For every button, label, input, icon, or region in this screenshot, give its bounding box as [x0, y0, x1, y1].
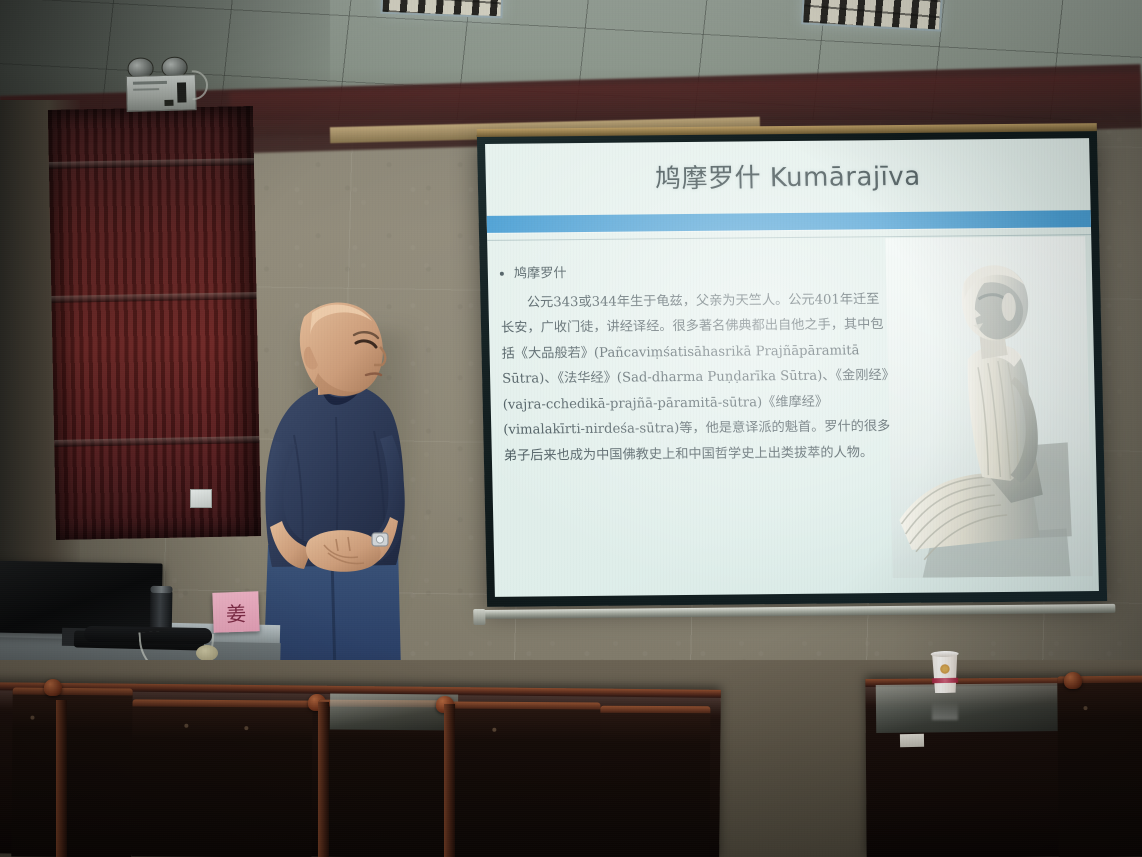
- chair-knob: [44, 679, 62, 696]
- chair-back[interactable]: [1057, 676, 1142, 857]
- slide-body: 鸠摩罗什 公元343或344年生于龟兹，父亲为天竺人。公元401年迁至长安，广收…: [500, 258, 897, 469]
- light-louver-cross: [383, 0, 502, 16]
- slide-bullet-item: 鸠摩罗什: [500, 258, 893, 287]
- bullet-dot-icon: [500, 272, 504, 276]
- paper-cup[interactable]: [930, 653, 961, 694]
- chair-rivet: [30, 716, 34, 720]
- light-louver-cross: [803, 0, 941, 30]
- curtain-seam: [49, 158, 254, 169]
- desk-glass-top: [876, 683, 1066, 733]
- screen-frame: 鸠摩罗什 Kumārajīva 鸠摩罗什 公元343或344年生于龟兹，父亲为天…: [477, 129, 1107, 607]
- screen-pull-knob[interactable]: [473, 609, 485, 625]
- computer-monitor[interactable]: [0, 560, 163, 635]
- cup-reflection: [932, 694, 958, 720]
- slide-paragraph: 公元343或344年生于龟兹，父亲为天竺人。公元401年迁至长安，广收门徒，讲经…: [500, 287, 896, 469]
- chair-rivet: [492, 728, 496, 732]
- wall-power-outlet[interactable]: [190, 489, 212, 508]
- emergency-light-icon: [125, 56, 200, 112]
- chair-back[interactable]: [11, 687, 132, 857]
- chair-back-top-rail: [13, 687, 133, 695]
- red-curtain: [48, 106, 261, 540]
- curtain-seam: [54, 436, 259, 447]
- chair-back[interactable]: [447, 701, 600, 857]
- chair-back-top-rail: [448, 701, 600, 709]
- chair-rivet: [184, 724, 188, 728]
- floor-socket: [196, 645, 218, 661]
- slide-title: 鸠摩罗什 Kumārajīva: [485, 154, 1090, 197]
- chair-rivet: [1083, 706, 1087, 710]
- name-card: 姜: [212, 591, 259, 633]
- wristwatch-icon: [372, 533, 388, 546]
- projection-screen: 鸠摩罗什 Kumārajīva 鸠摩罗什 公元343或344年生于龟兹，父亲为天…: [477, 129, 1107, 607]
- lecture-hall-photo: 鸠摩罗什 Kumārajīva 鸠摩罗什 公元343或344年生于龟兹，父亲为天…: [0, 0, 1142, 857]
- curtain-seam: [51, 292, 256, 303]
- chair-rivet: [244, 726, 248, 730]
- slide-accent-bar: [487, 210, 1091, 233]
- projector-washout-overlay: [885, 236, 1092, 578]
- chair-leg: [444, 704, 455, 857]
- cup-band: [932, 678, 958, 683]
- seat-number-label: [900, 734, 924, 747]
- chair-back[interactable]: [131, 699, 312, 857]
- chair-leg: [318, 702, 329, 857]
- emergency-light-strip: [133, 88, 159, 91]
- emergency-light-strip: [133, 81, 167, 85]
- chair-back-top-rail: [133, 699, 313, 707]
- emergency-light-indicator: [164, 100, 173, 106]
- emergency-light-body: [126, 74, 197, 112]
- slide-bullet-label: 鸠摩罗什: [514, 261, 567, 287]
- emergency-light-switch[interactable]: [177, 82, 187, 102]
- thermos-cap: [150, 586, 172, 593]
- chair-knob: [1064, 672, 1082, 689]
- chair-leg: [56, 700, 67, 857]
- buddha-statue-image: [885, 236, 1092, 578]
- projected-slide: 鸠摩罗什 Kumārajīva 鸠摩罗什 公元343或344年生于龟兹，父亲为天…: [485, 138, 1099, 597]
- chair-back-top-rail: [600, 706, 710, 714]
- chair-back[interactable]: [600, 706, 711, 857]
